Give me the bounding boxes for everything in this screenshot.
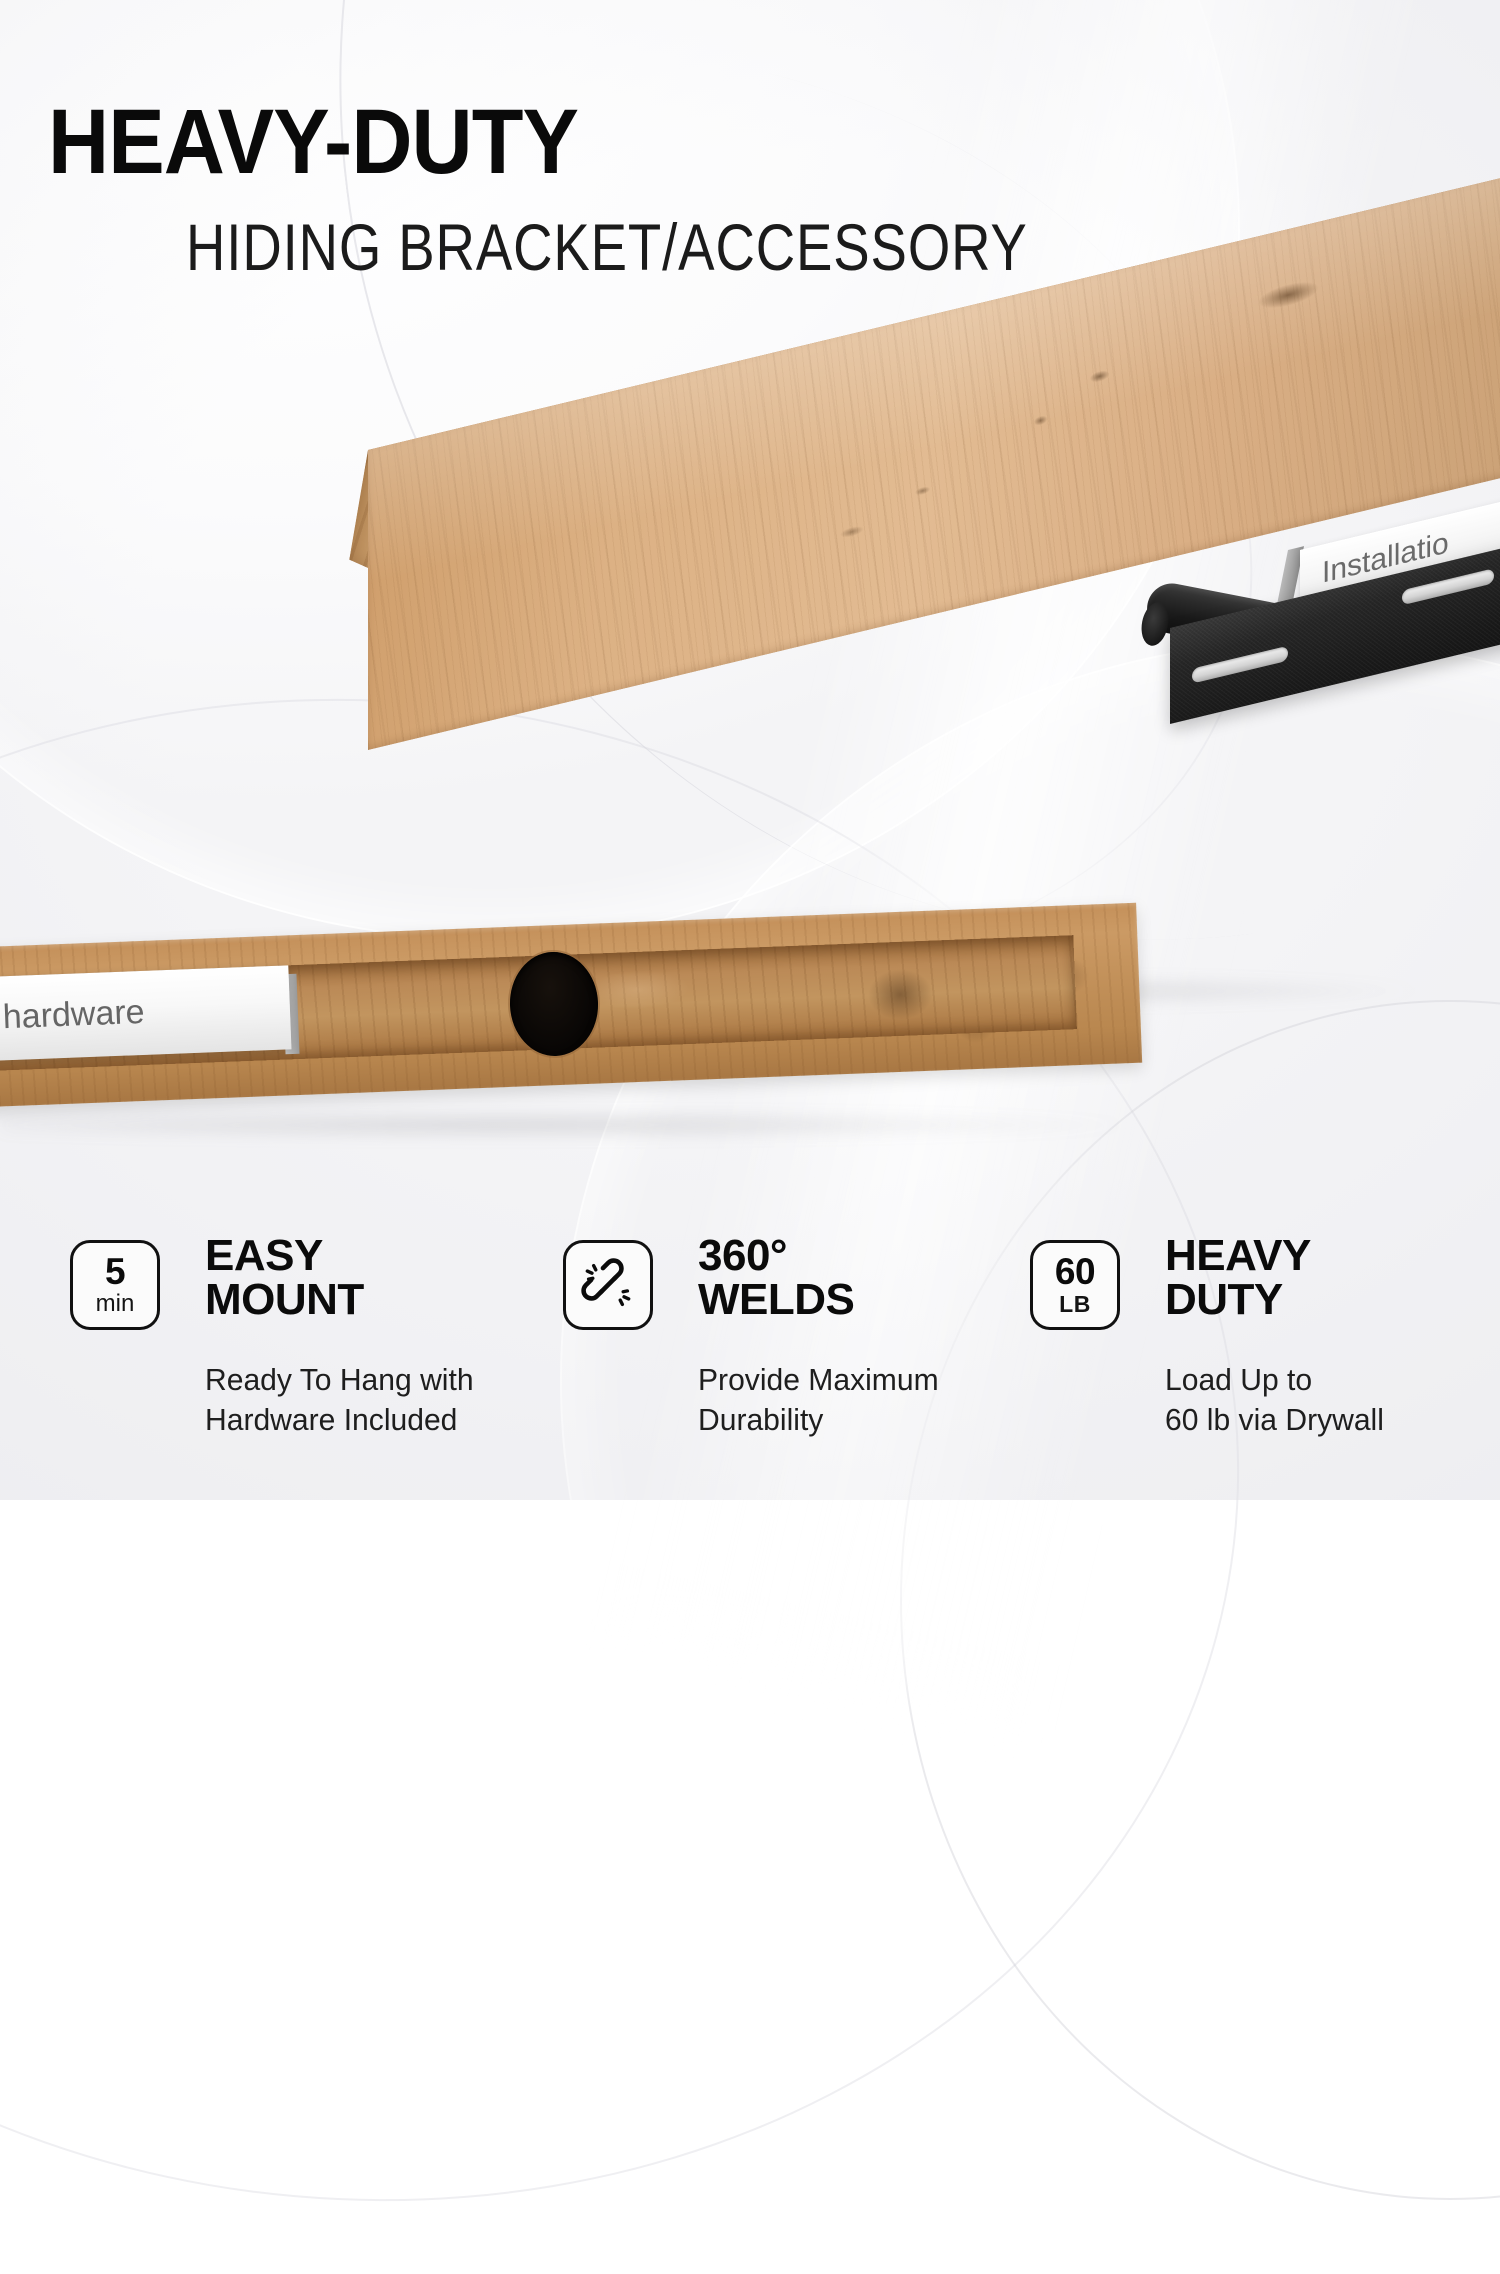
package-box-bottom: ion hardware (0, 965, 291, 1062)
feature-desc-line2: Hardware Included (205, 1400, 535, 1440)
background-swoosh-5 (900, 1000, 1500, 2200)
badge-unit: LB (1059, 1292, 1091, 1316)
feature-title-line2: DUTY (1165, 1278, 1495, 1322)
badge-unit: min (96, 1291, 135, 1316)
feature-title-line2: WELDS (698, 1278, 1028, 1322)
weight-badge-icon: 60 LB (1030, 1240, 1120, 1330)
hero-image-bottom: ion hardware (0, 900, 1500, 1180)
bracket-slot-icon (1192, 646, 1288, 684)
page-headline: HEAVY-DUTY (48, 96, 578, 188)
feature-title: 360° WELDS (698, 1234, 1028, 1322)
feature-description: Provide Maximum Durability (698, 1360, 1028, 1439)
feature-title-line1: EASY (205, 1234, 535, 1278)
feature-title: EASY MOUNT (205, 1234, 535, 1322)
feature-desc-line1: Provide Maximum (698, 1360, 1028, 1400)
timer-badge-icon: 5 min (70, 1240, 160, 1330)
feature-360-welds: 360° WELDS Provide Maximum Durability (563, 1232, 1033, 1472)
chain-link-weld-icon (563, 1240, 653, 1330)
feature-easy-mount: 5 min EASY MOUNT Ready To Hang with Hard… (70, 1232, 540, 1472)
feature-desc-line1: Ready To Hang with (205, 1360, 535, 1400)
feature-desc-line2: Durability (698, 1400, 1028, 1440)
feature-description: Ready To Hang with Hardware Included (205, 1360, 535, 1439)
feature-title-line1: HEAVY (1165, 1234, 1495, 1278)
feature-heavy-duty: 60 LB HEAVY DUTY Load Up to 60 lb via Dr… (1030, 1232, 1500, 1472)
feature-title: HEAVY DUTY (1165, 1234, 1495, 1322)
hero-image-top: Installatio (0, 250, 1500, 850)
feature-list: 5 min EASY MOUNT Ready To Hang with Hard… (0, 1232, 1500, 1472)
package-label-bottom: ion hardware (0, 993, 145, 1040)
bracket-slot-icon (1402, 568, 1494, 605)
feature-title-line1: 360° (698, 1234, 1028, 1278)
feature-title-line2: MOUNT (205, 1278, 535, 1322)
feature-desc-line1: Load Up to (1165, 1360, 1495, 1400)
product-marketing-image: HEAVY-DUTY HIDING BRACKET/ACCESSORY Inst… (0, 0, 1500, 1500)
chain-link-icon (581, 1258, 635, 1312)
feature-desc-line2: 60 lb via Drywall (1165, 1400, 1495, 1440)
badge-value: 60 (1055, 1254, 1095, 1290)
badge-value: 5 (105, 1254, 125, 1290)
shelf-shadow-bottom (0, 1112, 1120, 1138)
feature-description: Load Up to 60 lb via Drywall (1165, 1360, 1495, 1439)
